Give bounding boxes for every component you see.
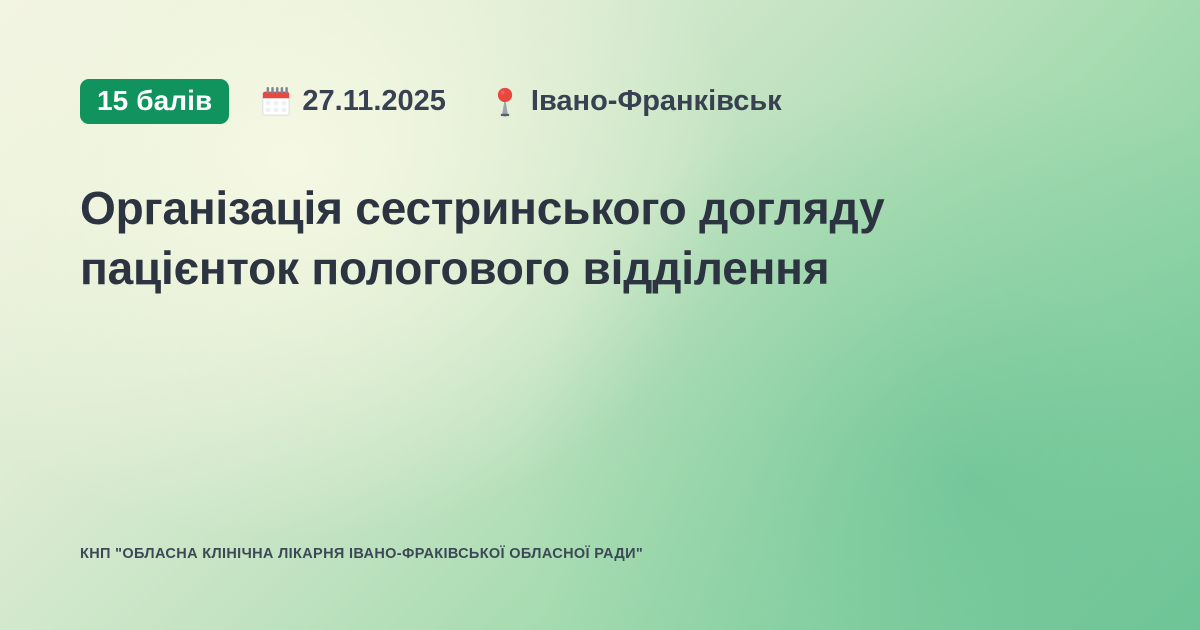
event-date: 27.11.2025 [261,85,446,117]
event-card: 15 балів [0,0,1200,630]
page-title: Організація сестринського догляду пацієн… [80,179,1090,299]
card-content: 15 балів [0,0,1200,630]
organizer-name: КНП "ОБЛАСНА КЛІНІЧНА ЛІКАРНЯ ІВАНО-ФРАК… [80,546,1120,563]
event-location: Івано-Франківськ [490,85,782,117]
layout-spacer [80,299,1120,546]
page-title-line-1: Організація сестринського догляду [80,182,884,234]
meta-row: 15 балів [80,78,1120,124]
event-date-value: 27.11.2025 [302,87,446,116]
event-location-value: Івано-Франківськ [531,87,782,116]
points-badge: 15 балів [80,79,229,124]
calendar-icon [261,86,291,118]
map-pin-icon [490,86,520,118]
page-title-line-2: пацієнток пологового відділення [80,242,829,294]
